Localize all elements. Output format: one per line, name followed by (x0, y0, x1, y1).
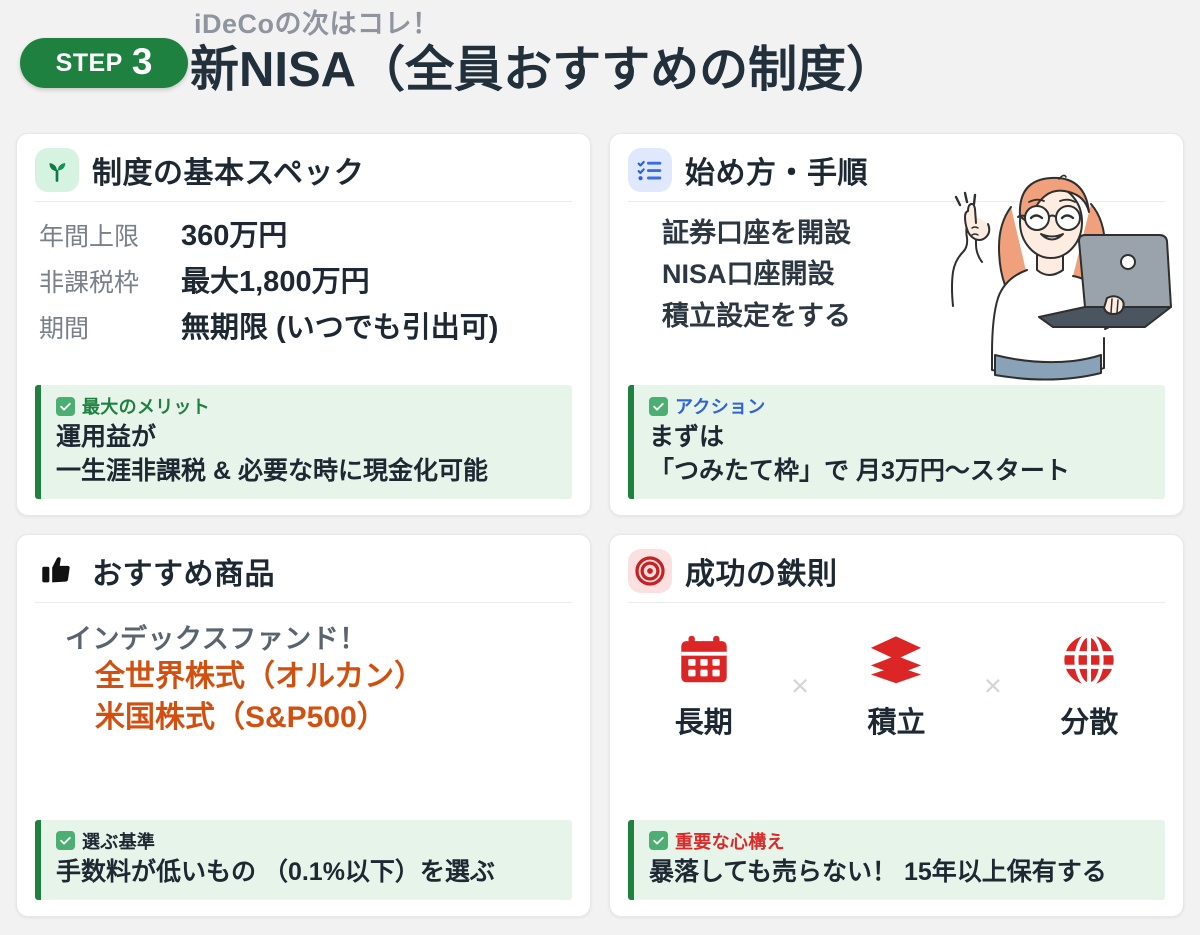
calendar-icon (675, 631, 733, 694)
product-item: 全世界株式（オルカン） (65, 656, 572, 697)
principle-label: 積立 (867, 699, 925, 741)
callout-merit-header: 最大のメリット (56, 393, 558, 419)
card-success-rules: 成功の鉄則 (609, 534, 1184, 917)
check-icon (56, 831, 75, 850)
callout-action: アクション まずは 「つみたて枠」で 月3万円〜スタート (628, 385, 1165, 499)
list-item: 積立設定をする (662, 297, 1165, 335)
product-lead: インデックスファンド！ (65, 617, 572, 656)
card-success-rules-header: 成功の鉄則 (628, 549, 1165, 602)
callout-action-body: まずは 「つみたて枠」で 月3万円〜スタート (649, 421, 1151, 488)
spec-list: 年間上限 360万円 非課税枠 最大1,800万円 期間 無期限 (いつでも引出… (35, 212, 572, 346)
card-success-rules-title: 成功の鉄則 (685, 549, 838, 593)
callout-line: 運用益が (56, 421, 558, 455)
spec-label: 非課税枠 (39, 263, 167, 299)
callout-action-label: アクション (675, 393, 766, 419)
spec-value: 無期限 (いつでも引出可) (181, 304, 498, 346)
step-badge-number: 3 (132, 43, 153, 80)
page-title: 新NISA（全員おすすめの制度） (190, 42, 895, 98)
title-block: iDeCoの次はコレ！ 新NISA（全員おすすめの制度） (190, 10, 895, 98)
spec-label: 期間 (39, 309, 167, 345)
card-basic-spec: 制度の基本スペック 年間上限 360万円 非課税枠 最大1,800万円 期間 無… (16, 133, 591, 516)
check-icon (649, 397, 668, 416)
callout-merit-body: 運用益が 一生涯非課税 & 必要な時に現金化可能 (56, 421, 558, 488)
divider (35, 201, 572, 202)
principle-label: 分散 (1060, 699, 1118, 741)
multiply-separator: × (765, 668, 834, 704)
divider (35, 602, 572, 603)
principle-long-term: 長期 (642, 631, 765, 741)
callout-criteria-header: 選ぶ基準 (56, 828, 558, 854)
layers-icon (867, 631, 925, 694)
step-badge-word: STEP (56, 49, 123, 78)
callout-mindset-label: 重要な心構え (675, 828, 785, 854)
spec-row: 年間上限 360万円 (39, 212, 572, 254)
spec-label: 年間上限 (39, 217, 167, 253)
product-item: 米国株式（S&P500） (65, 697, 572, 738)
callout-line: 「つみたて枠」で 月3万円〜スタート (649, 455, 1151, 489)
card-grid: 制度の基本スペック 年間上限 360万円 非課税枠 最大1,800万円 期間 無… (0, 125, 1200, 935)
principle-diversification: 分散 (1028, 631, 1151, 741)
card-how-to-start-title: 始め方・手順 (685, 148, 868, 192)
spec-row: 非課税枠 最大1,800万円 (39, 258, 572, 300)
callout-action-header: アクション (649, 393, 1151, 419)
product-block: インデックスファンド！ 全世界株式（オルカン） 米国株式（S&P500） (35, 613, 572, 739)
sprout-icon (35, 148, 79, 192)
card-basic-spec-title: 制度の基本スペック (92, 148, 364, 192)
spec-value: 最大1,800万円 (181, 258, 370, 300)
card-recommended-products: おすすめ商品 インデックスファンド！ 全世界株式（オルカン） 米国株式（S&P5… (16, 534, 591, 917)
card-recommended-products-header: おすすめ商品 (35, 549, 572, 602)
card-how-to-start: 始め方・手順 (609, 133, 1184, 516)
callout-merit-label: 最大のメリット (82, 393, 210, 419)
principle-accumulation: 積立 (835, 631, 958, 741)
callout-line: まずは (649, 421, 1151, 455)
principles-row: 長期 × 積立 × (628, 613, 1165, 747)
callout-line: 一生涯非課税 & 必要な時に現金化可能 (56, 455, 558, 489)
card-recommended-products-title: おすすめ商品 (92, 549, 275, 593)
thumbs-up-icon (35, 549, 79, 593)
check-icon (56, 397, 75, 416)
infographic-page: STEP 3 iDeCoの次はコレ！ 新NISA（全員おすすめの制度） 制度の基… (0, 0, 1200, 935)
principle-label: 長期 (675, 699, 733, 741)
list-item: NISA口座開設 (662, 255, 1165, 293)
callout-mindset: 重要な心構え 暴落しても売らない！ 15年以上保有する (628, 820, 1165, 901)
start-steps-list: 証券口座を開設 NISA口座開設 積立設定をする (628, 212, 1165, 335)
globe-icon (1060, 631, 1118, 694)
target-icon (628, 549, 672, 593)
page-header: STEP 3 iDeCoの次はコレ！ 新NISA（全員おすすめの制度） (0, 0, 1200, 125)
multiply-separator: × (958, 668, 1027, 704)
callout-criteria-body: 手数料が低いもの （0.1%以下）を選ぶ (56, 856, 558, 890)
card-basic-spec-header: 制度の基本スペック (35, 148, 572, 201)
step-badge: STEP 3 (20, 38, 188, 88)
spec-row: 期間 無期限 (いつでも引出可) (39, 304, 572, 346)
callout-line: 手数料が低いもの （0.1%以下）を選ぶ (56, 856, 558, 890)
checklist-icon (628, 148, 672, 192)
callout-criteria: 選ぶ基準 手数料が低いもの （0.1%以下）を選ぶ (35, 820, 572, 901)
callout-mindset-body: 暴落しても売らない！ 15年以上保有する (649, 856, 1151, 890)
divider (628, 602, 1165, 603)
list-item: 証券口座を開設 (662, 214, 1165, 252)
callout-merit: 最大のメリット 運用益が 一生涯非課税 & 必要な時に現金化可能 (35, 385, 572, 499)
callout-line: 暴落しても売らない！ 15年以上保有する (649, 856, 1151, 890)
callout-mindset-header: 重要な心構え (649, 828, 1151, 854)
spec-value: 360万円 (181, 212, 287, 254)
check-icon (649, 831, 668, 850)
eyebrow-text: iDeCoの次はコレ！ (190, 10, 895, 40)
callout-criteria-label: 選ぶ基準 (82, 828, 155, 854)
